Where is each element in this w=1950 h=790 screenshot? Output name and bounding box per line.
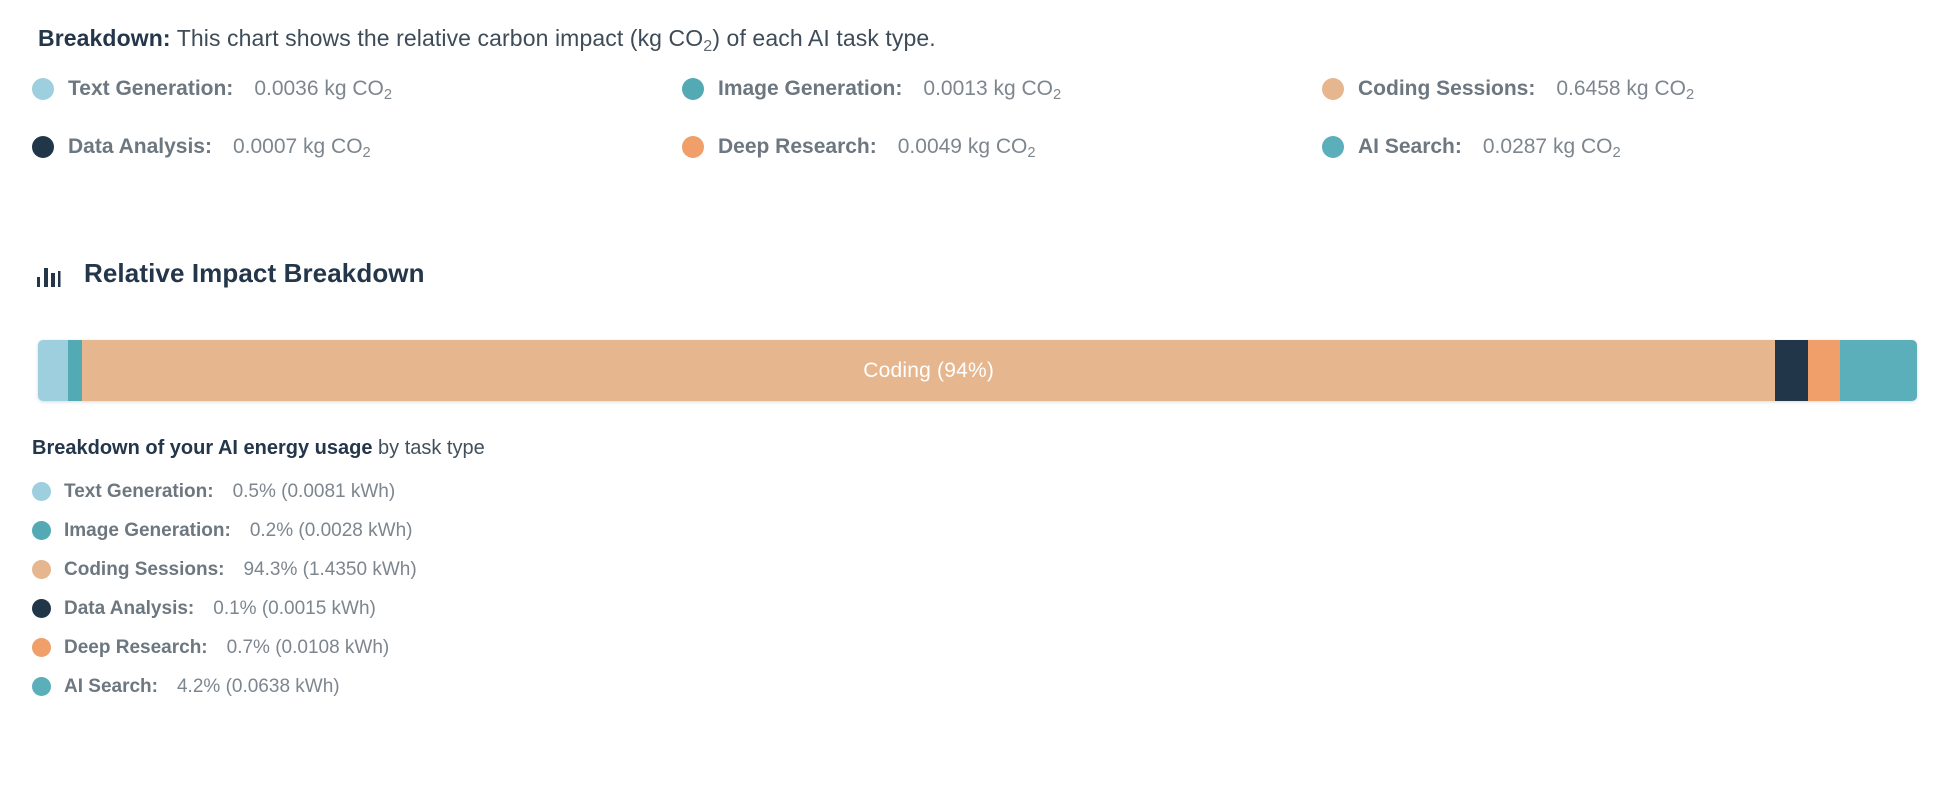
bar-segment-image-generation[interactable] [68,340,82,401]
energy-legend-label: Coding Sessions: [64,559,224,581]
energy-legend-value: 94.3% (1.4350 kWh) [243,559,416,581]
legend-color-dot-icon [32,78,54,100]
legend-color-dot-icon [32,599,51,618]
carbon-legend-value-text: 0.0287 kg CO [1483,135,1613,158]
energy-legend-value: 0.5% (0.0081 kWh) [233,481,396,503]
carbon-legend: Text Generation: 0.0036 kg CO2 Image Gen… [32,60,1922,176]
energy-legend-list: Text Generation: 0.5% (0.0081 kWh) Image… [32,472,417,706]
carbon-legend-value: 0.6458 kg CO2 [1556,77,1694,101]
co2-subscript: 2 [1053,87,1061,103]
legend-color-dot-icon [32,560,51,579]
energy-subtitle-strong: Breakdown of your AI energy usage [32,437,372,459]
list-item-coding-sessions[interactable]: Coding Sessions: 94.3% (1.4350 kWh) [32,550,417,589]
breakdown-intro-text-end: ) of each AI task type. [712,25,935,51]
carbon-legend-value-text: 0.0007 kg CO [233,135,363,158]
carbon-legend-item-image-generation[interactable]: Image Generation: 0.0013 kg CO2 [682,60,1322,118]
carbon-legend-item-deep-research[interactable]: Deep Research: 0.0049 kg CO2 [682,118,1322,176]
bar-segment-text-generation[interactable] [38,340,68,401]
bar-segment-ai-search[interactable] [1840,340,1917,401]
carbon-legend-item-text-generation[interactable]: Text Generation: 0.0036 kg CO2 [32,60,682,118]
co2-subscript: 2 [703,37,712,55]
list-item-image-generation[interactable]: Image Generation: 0.2% (0.0028 kWh) [32,511,417,550]
carbon-legend-label: Text Generation: [68,77,233,101]
energy-legend-label: Image Generation: [64,520,231,542]
energy-subtitle-rest: by task type [372,437,484,459]
carbon-legend-item-coding-sessions[interactable]: Coding Sessions: 0.6458 kg CO2 [1322,60,1922,118]
stacked-impact-bar[interactable]: Coding (94%) [38,340,1917,401]
carbon-legend-label: Data Analysis: [68,135,212,159]
co2-subscript: 2 [1027,145,1035,161]
legend-color-dot-icon [32,521,51,540]
list-item-ai-search[interactable]: AI Search: 4.2% (0.0638 kWh) [32,667,417,706]
carbon-legend-label: Image Generation: [718,77,902,101]
carbon-legend-value: 0.0007 kg CO2 [233,135,371,159]
legend-color-dot-icon [32,638,51,657]
energy-breakdown-subtitle: Breakdown of your AI energy usage by tas… [32,437,485,460]
breakdown-intro-text: This chart shows the relative carbon imp… [171,25,704,51]
co2-subscript: 2 [1686,87,1694,103]
legend-color-dot-icon [682,78,704,100]
legend-color-dot-icon [32,677,51,696]
legend-color-dot-icon [1322,78,1344,100]
legend-color-dot-icon [1322,136,1344,158]
co2-subscript: 2 [363,145,371,161]
energy-legend-label: Text Generation: [64,481,214,503]
bar-segment-deep-research[interactable] [1808,340,1840,401]
legend-color-dot-icon [32,136,54,158]
carbon-legend-value: 0.0287 kg CO2 [1483,135,1621,159]
carbon-legend-value-text: 0.6458 kg CO [1556,77,1686,100]
section-heading: Relative Impact Breakdown [36,258,425,289]
carbon-legend-value-text: 0.0049 kg CO [898,135,1028,158]
list-item-data-analysis[interactable]: Data Analysis: 0.1% (0.0015 kWh) [32,589,417,628]
breakdown-panel: Breakdown: This chart shows the relative… [0,0,1950,790]
co2-subscript: 2 [384,87,392,103]
energy-legend-value: 4.2% (0.0638 kWh) [177,676,340,698]
carbon-legend-value: 0.0049 kg CO2 [898,135,1036,159]
energy-legend-label: AI Search: [64,676,158,698]
energy-legend-label: Deep Research: [64,637,208,659]
energy-legend-value: 0.1% (0.0015 kWh) [213,598,376,620]
bar-segment-label: Coding (94%) [863,359,994,383]
list-item-text-generation[interactable]: Text Generation: 0.5% (0.0081 kWh) [32,472,417,511]
carbon-legend-value-text: 0.0013 kg CO [923,77,1053,100]
breakdown-intro: Breakdown: This chart shows the relative… [38,25,936,52]
carbon-legend-label: AI Search: [1358,135,1462,159]
carbon-legend-item-ai-search[interactable]: AI Search: 0.0287 kg CO2 [1322,118,1922,176]
carbon-legend-value: 0.0013 kg CO2 [923,77,1061,101]
energy-legend-value: 0.7% (0.0108 kWh) [227,637,390,659]
bar-segment-data-analysis[interactable] [1775,340,1808,401]
carbon-legend-value-text: 0.0036 kg CO [254,77,384,100]
legend-color-dot-icon [682,136,704,158]
co2-subscript: 2 [1612,145,1620,161]
carbon-legend-label: Coding Sessions: [1358,77,1535,101]
bar-segment-coding-sessions[interactable]: Coding (94%) [82,340,1775,401]
legend-color-dot-icon [32,482,51,501]
breakdown-intro-lead: Breakdown: [38,25,171,51]
carbon-legend-label: Deep Research: [718,135,877,159]
carbon-legend-value: 0.0036 kg CO2 [254,77,392,101]
energy-legend-label: Data Analysis: [64,598,194,620]
bar-chart-icon [36,260,62,288]
energy-legend-value: 0.2% (0.0028 kWh) [250,520,413,542]
carbon-legend-item-data-analysis[interactable]: Data Analysis: 0.0007 kg CO2 [32,118,682,176]
list-item-deep-research[interactable]: Deep Research: 0.7% (0.0108 kWh) [32,628,417,667]
page-title: Relative Impact Breakdown [84,258,425,289]
